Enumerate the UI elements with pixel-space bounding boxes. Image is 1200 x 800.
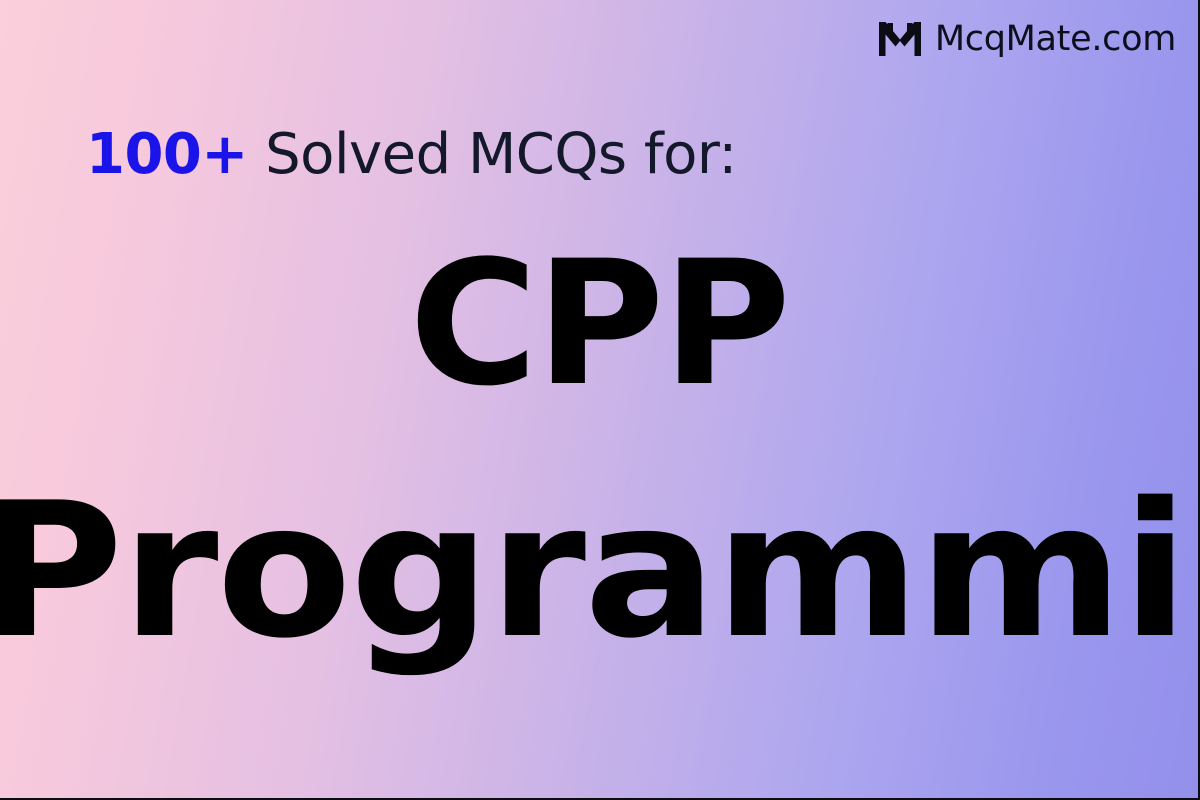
subject-title: CPP Programming xyxy=(0,232,1198,702)
subject-title-line-2: Programming xyxy=(0,478,1200,664)
mcq-count: 100+ xyxy=(86,122,248,187)
mcqmate-m-monogram-icon xyxy=(877,18,923,60)
brand-logo[interactable]: McqMate.com xyxy=(877,18,1176,60)
subject-title-line-1: CPP xyxy=(2,238,1195,410)
brand-name: McqMate.com xyxy=(935,22,1176,57)
page-headline: 100+ Solved MCQs for: xyxy=(86,126,737,185)
headline-lead-text: Solved MCQs for: xyxy=(248,122,737,187)
mcq-promo-banner: McqMate.com 100+ Solved MCQs for: CPP Pr… xyxy=(0,0,1200,800)
